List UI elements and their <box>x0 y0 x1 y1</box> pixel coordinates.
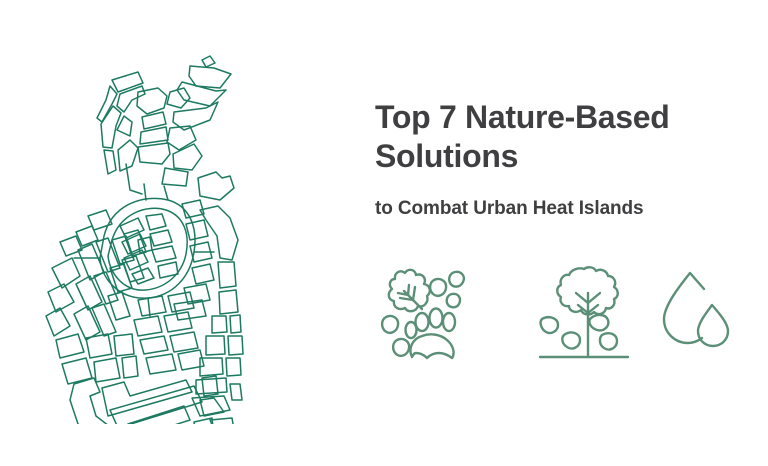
water-drops-icon <box>660 263 740 363</box>
icon-row <box>375 263 745 368</box>
biodiversity-leaf-paw-icon <box>378 263 470 363</box>
biodiversity-leaf-paw-icon-svg <box>378 263 470 363</box>
page-title-line-2: Solutions <box>375 138 518 174</box>
water-drops-icon-svg <box>660 263 740 363</box>
urban-parcel-map-svg <box>34 44 284 424</box>
poster-canvas: Top 7 Nature-Based Solutions to Combat U… <box>0 0 768 466</box>
page-subtitle: to Combat Urban Heat Islands <box>375 176 745 221</box>
heading-block: Top 7 Nature-Based Solutions to Combat U… <box>375 98 745 221</box>
page-title: Top 7 Nature-Based Solutions <box>375 98 745 176</box>
page-title-line-1: Top 7 Nature-Based <box>375 99 670 135</box>
urban-parcel-map <box>34 44 284 424</box>
tree-planting-icon-svg <box>538 263 630 363</box>
tree-planting-icon <box>538 263 630 363</box>
